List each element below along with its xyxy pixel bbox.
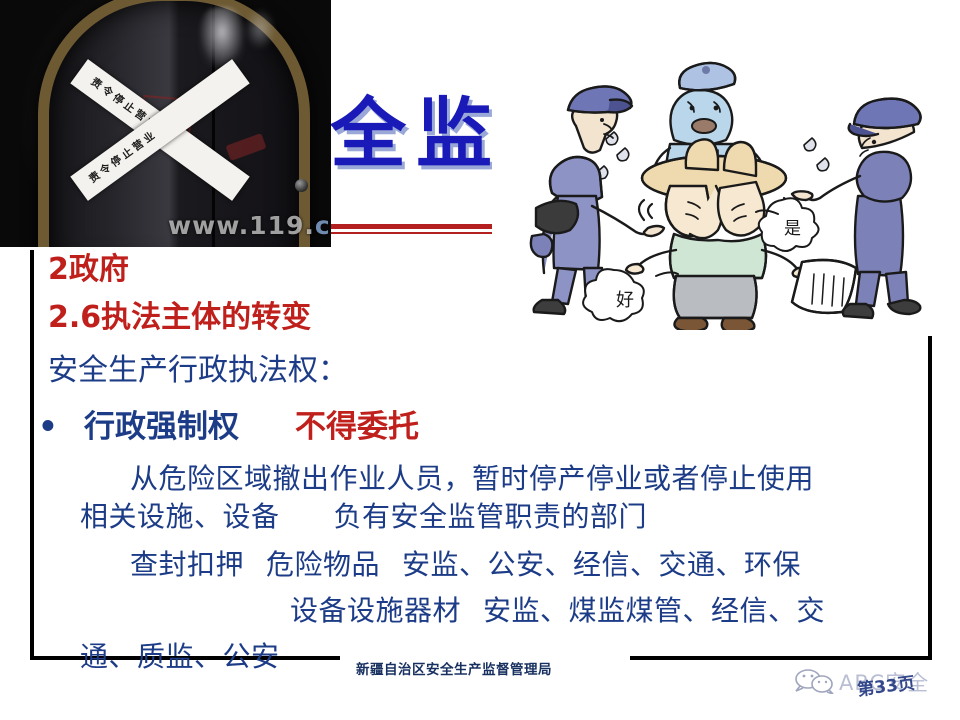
bubble-left-text: 好 bbox=[616, 290, 634, 311]
body-line-8: 设备设施器材安监、煤监煤管、经信、交 bbox=[290, 596, 825, 626]
footer-organization: 新疆自治区安全生产监督管理局 bbox=[356, 658, 552, 678]
frame-border-bottom-right bbox=[630, 656, 932, 660]
body-line-6: 相关设施、设备负有安全监管职责的部门 bbox=[80, 502, 647, 532]
page-title: 全监 bbox=[330, 96, 502, 172]
body-line-2: 2.6执法主体的转变 bbox=[48, 302, 311, 334]
body-line-6-a: 相关设施、设备 bbox=[80, 500, 280, 533]
body-line-8-b: 安监、煤监煤管、经信、交 bbox=[483, 594, 825, 627]
door-knob-icon bbox=[295, 179, 308, 192]
body-line-6-b: 负有安全监管职责的部门 bbox=[334, 500, 648, 533]
bubble-right-text: 是 bbox=[784, 219, 801, 239]
body-line-5: 从危险区域撤出作业人员，暂时停产停业或者停止使用 bbox=[130, 464, 814, 494]
body-line-7-a: 查封扣押 bbox=[130, 548, 244, 581]
body-line-1: 2政府 bbox=[48, 254, 129, 286]
body-line-3: 安全生产行政执法权： bbox=[48, 355, 348, 387]
body-line-7-b: 危险物品 bbox=[266, 548, 380, 581]
door-highlight bbox=[199, 7, 245, 69]
frame-border-left bbox=[30, 250, 34, 660]
photo-watermark-main: www.119. bbox=[168, 211, 315, 240]
cartoon-svg: 好 是 bbox=[492, 28, 932, 330]
slide-canvas: 全监 责令停止营业 责令停止营业 www.119.cn bbox=[0, 0, 960, 720]
body-line-9: 通、质监、公安 bbox=[80, 642, 280, 672]
footer-brand-badge: ABC安全 第33页 bbox=[795, 666, 940, 700]
title-underline-thin bbox=[330, 232, 512, 234]
photo-watermark: www.119.cn bbox=[168, 211, 331, 240]
frame-border-right bbox=[928, 336, 932, 660]
body-line-4: •行政强制权不得委托 bbox=[38, 411, 419, 444]
red-stamp-mark-secondary bbox=[225, 133, 266, 161]
body-line-7: 查封扣押危险物品安监、公安、经信、交通、环保 bbox=[130, 550, 801, 580]
photo-watermark-suffix: cn bbox=[315, 211, 331, 240]
body-line-8-a: 设备设施器材 bbox=[290, 594, 461, 627]
door-highlight-secondary bbox=[245, 9, 275, 49]
body-line-4-red: 不得委托 bbox=[295, 409, 419, 445]
title-underline-thick bbox=[330, 224, 512, 229]
bullet-icon: • bbox=[38, 411, 84, 444]
wechat-icon bbox=[795, 668, 835, 694]
inspection-cartoon-illustration: 好 是 bbox=[492, 28, 932, 330]
body-line-7-c: 安监、公安、经信、交通、环保 bbox=[402, 548, 801, 581]
sealed-door-photo: 责令停止营业 责令停止营业 www.119.cn bbox=[0, 0, 331, 247]
body-line-4-blue: 行政强制权 bbox=[84, 409, 239, 445]
